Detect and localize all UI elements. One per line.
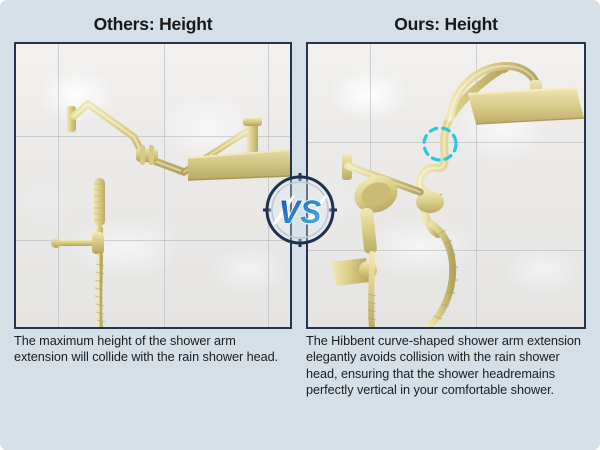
left-product-photo: [14, 42, 292, 329]
right-caption: The Hibbent curve-shaped shower arm exte…: [306, 333, 587, 399]
vs-badge: VS: [263, 173, 337, 247]
comparison-graphic: Others: Height Ours: Height: [0, 0, 600, 450]
vs-label: VS: [279, 194, 322, 230]
right-column-title: Ours: Height: [306, 14, 586, 35]
left-column-title: Others: Height: [14, 14, 292, 35]
curve-highlight-circle: [424, 128, 456, 160]
left-shower-fixture-illustration: [16, 44, 290, 327]
right-product-photo: [306, 42, 586, 329]
left-caption: The maximum height of the shower arm ext…: [14, 333, 290, 366]
right-shower-fixture-illustration: [308, 44, 584, 327]
